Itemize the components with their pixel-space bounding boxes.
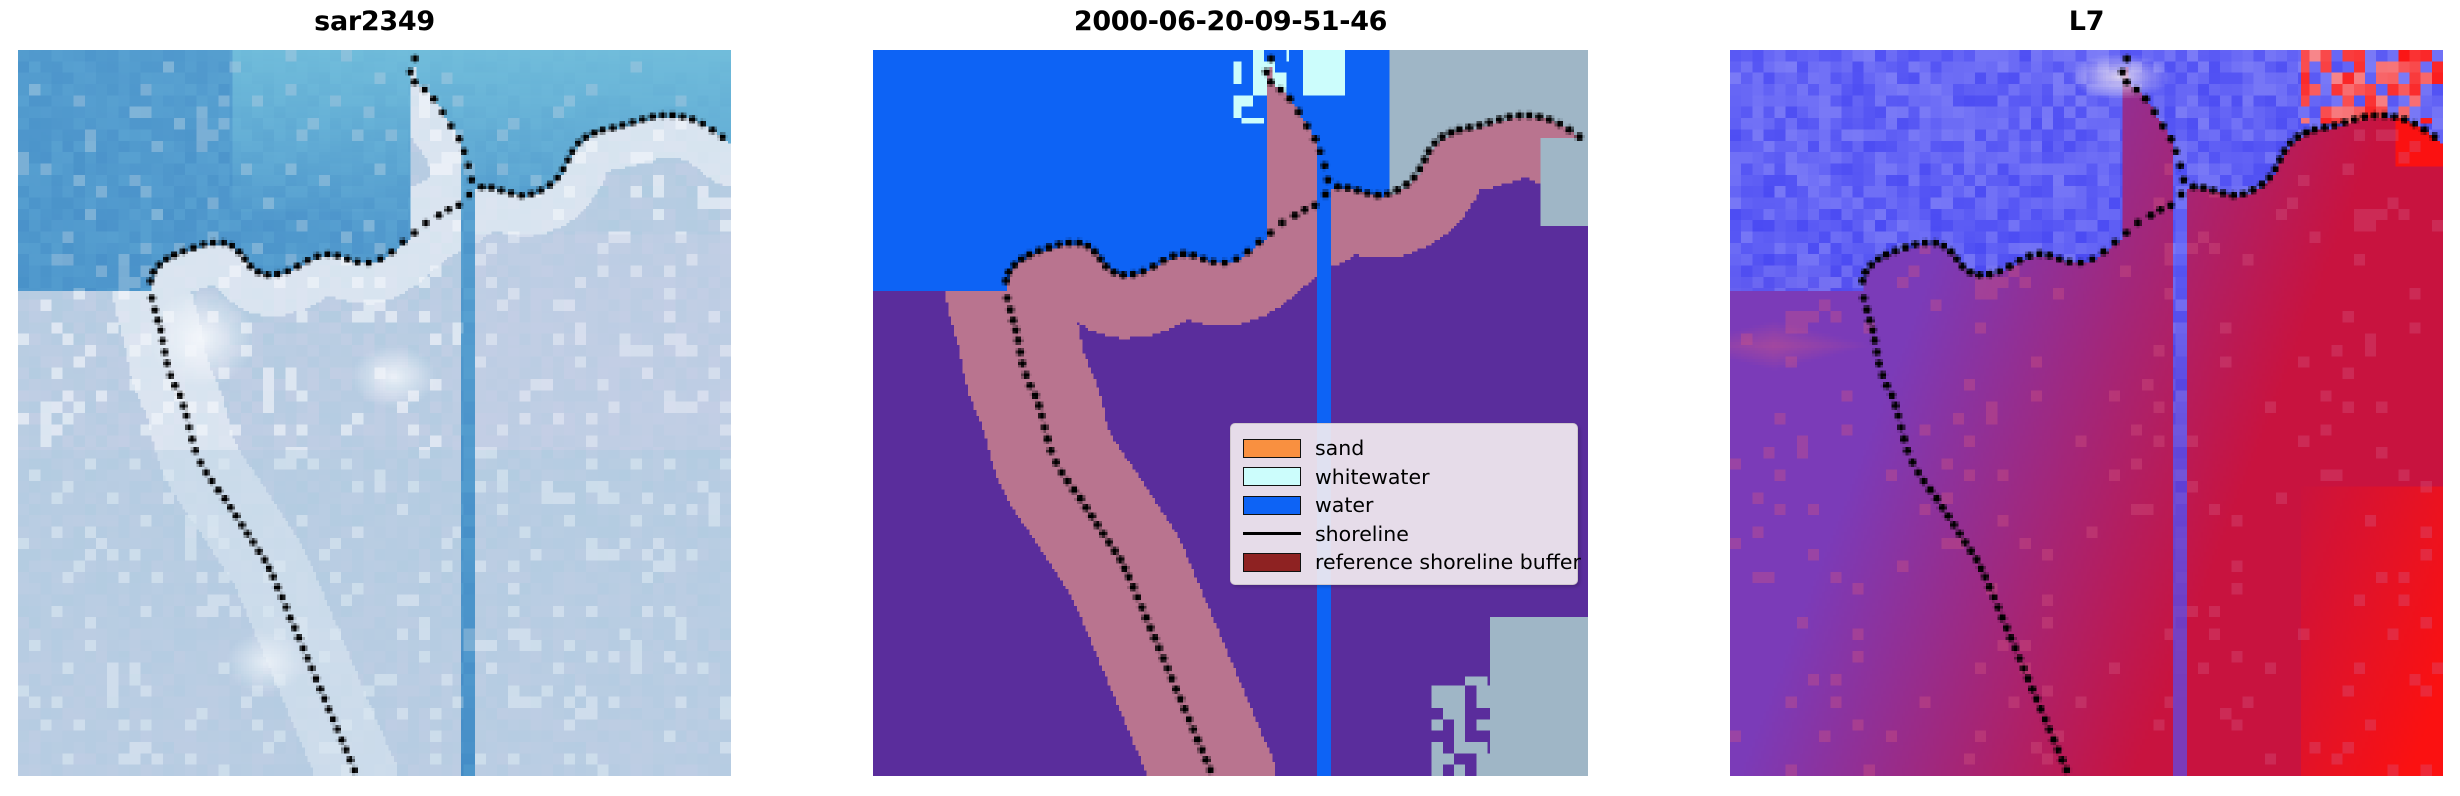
panel-image-2 (1730, 50, 2443, 776)
panel-sar2349: sar2349 (18, 50, 731, 776)
legend-swatch-sand-icon (1243, 439, 1301, 458)
panel-index: L7 (1730, 50, 2443, 776)
legend-label: sand (1315, 438, 1364, 459)
figure-root: sar2349 2000-06-20-09-51-46 L7 sandwhite… (0, 0, 2460, 796)
panel-image-0 (18, 50, 731, 776)
legend-row-water: water (1243, 491, 1565, 520)
legend-label: reference shoreline buffer (1315, 552, 1581, 573)
legend-label: whitewater (1315, 467, 1430, 488)
legend-row-reference-shoreline-buffer: reference shoreline buffer (1243, 548, 1565, 577)
legend-swatch-water-icon (1243, 496, 1301, 515)
legend-box: sandwhitewaterwatershorelinereference sh… (1230, 423, 1578, 585)
legend-label: shoreline (1315, 524, 1409, 545)
panel-image-1 (873, 50, 1588, 776)
legend-swatch-reference-shoreline-buffer-icon (1243, 553, 1301, 572)
panel-title-1: 2000-06-20-09-51-46 (873, 6, 1588, 37)
legend-row-sand: sand (1243, 434, 1565, 463)
legend-swatch-whitewater-icon (1243, 467, 1301, 486)
legend-label: water (1315, 495, 1373, 516)
legend-swatch-shoreline-icon (1243, 524, 1301, 543)
legend-row-shoreline: shoreline (1243, 520, 1565, 549)
panel-title-2: L7 (1730, 6, 2443, 37)
panel-title-0: sar2349 (18, 6, 731, 37)
panel-classification: 2000-06-20-09-51-46 (873, 50, 1588, 776)
legend-row-whitewater: whitewater (1243, 463, 1565, 492)
